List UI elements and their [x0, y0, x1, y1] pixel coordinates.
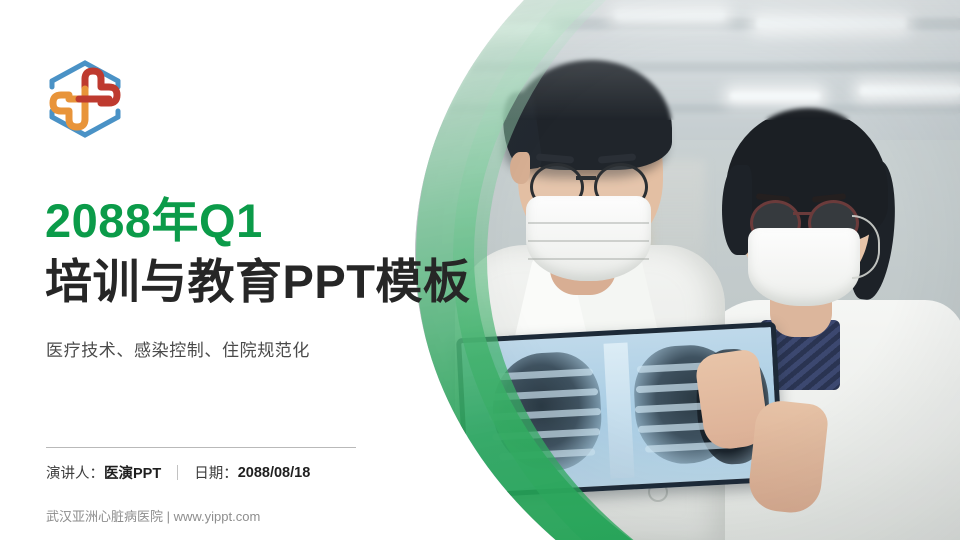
mask-pleat	[528, 222, 649, 224]
hospital-cross-logo	[46, 57, 124, 141]
doctor-left-face-mask	[526, 196, 651, 281]
hospital-photo	[400, 0, 960, 540]
ceiling-light	[860, 86, 960, 95]
date-value: 2088/08/18	[238, 465, 311, 481]
ceiling-beam	[400, 62, 960, 72]
meta-separator	[177, 465, 178, 480]
footer-credit: 武汉亚洲心脏病医院 | www.yippt.com	[46, 506, 260, 525]
page-title-year: 2088年Q1	[45, 197, 263, 244]
doctor-left-glasses-bridge	[576, 176, 596, 180]
presentation-slide: 2088年Q1 培训与教育PPT模板 医疗技术、感染控制、住院规范化 演讲人：医…	[0, 0, 960, 540]
xray-spine	[604, 343, 635, 479]
ceiling-light	[730, 92, 820, 100]
doctor-right-face-mask	[748, 228, 860, 306]
logo-svg	[46, 57, 124, 141]
presenter-label: 演讲人：	[46, 462, 104, 483]
date-label: 日期：	[194, 462, 238, 483]
slide-text-content: 2088年Q1 培训与教育PPT模板 医疗技术、感染控制、住院规范化 演讲人：医…	[0, 0, 430, 540]
ceiling-light	[430, 24, 550, 33]
ceiling-light	[615, 10, 725, 20]
ceiling-light	[756, 18, 906, 29]
ceiling-beam	[400, 104, 960, 113]
mask-pleat	[528, 240, 649, 242]
doctor-right-glasses-bridge	[793, 212, 811, 215]
meta-divider	[46, 447, 356, 448]
page-subtitle: 医疗技术、感染控制、住院规范化	[46, 336, 310, 361]
presenter-value: 医演PPT	[104, 462, 161, 483]
doctor-left-ear	[510, 152, 530, 184]
page-title-main: 培训与教育PPT模板	[45, 258, 470, 305]
doctor-hand	[746, 399, 829, 516]
presenter-meta: 演讲人：医演PPT 日期：2088/08/18	[46, 462, 310, 483]
mask-pleat	[528, 258, 649, 260]
